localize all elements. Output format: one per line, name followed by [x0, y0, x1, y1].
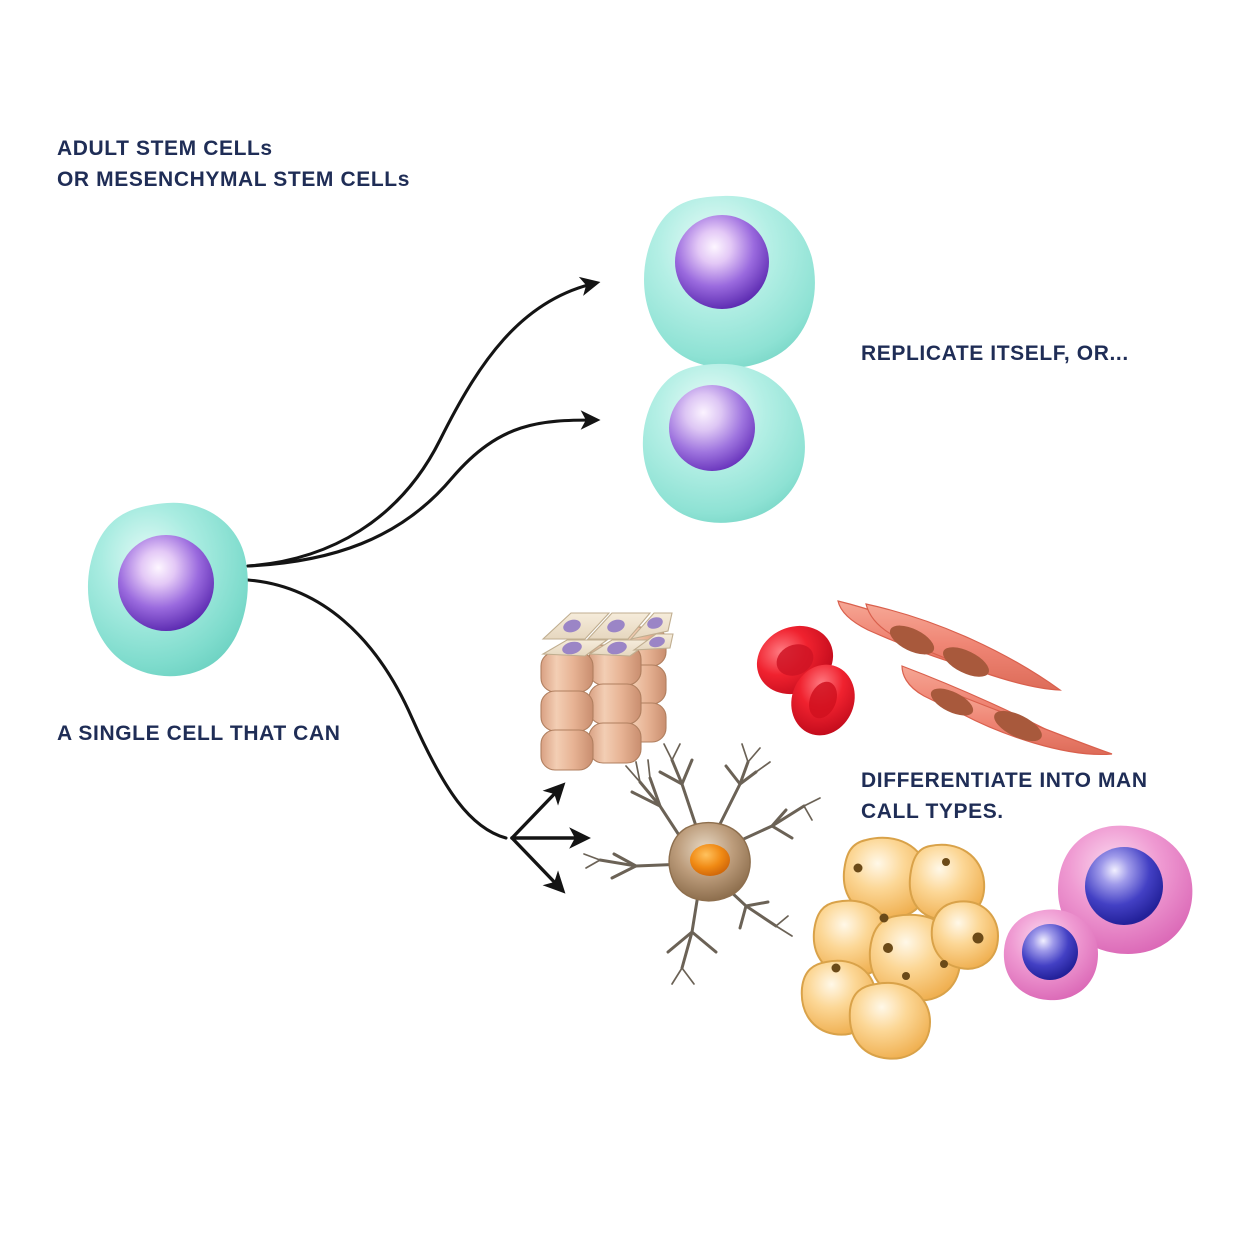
diagram-canvas: ADULT STEM CELLs OR MESENCHYMAL STEM CEL…	[0, 0, 1251, 1251]
arrow-to-daughter-bottom	[248, 420, 596, 566]
label-replicate-itself: REPLICATE ITSELF, OR...	[861, 338, 1129, 369]
arrow-fan-down	[512, 838, 562, 890]
page-title: ADULT STEM CELLs OR MESENCHYMAL STEM CEL…	[57, 133, 410, 195]
label-differentiate: DIFFERENTIATE INTO MAN CALL TYPES.	[861, 765, 1148, 827]
label-single-cell: A SINGLE CELL THAT CAN	[57, 718, 340, 749]
lymphocytes	[1004, 826, 1193, 1001]
smooth-muscle-cells	[838, 601, 1112, 754]
red-blood-cells	[746, 614, 865, 745]
stem-cell-source	[88, 503, 248, 676]
arrow-to-daughter-top	[248, 283, 596, 566]
arrow-to-differentiation	[248, 580, 506, 838]
epithelial-cell-block	[541, 613, 673, 770]
daughter-cell-bottom	[643, 364, 805, 523]
arrow-fan-up	[512, 786, 562, 838]
neuron	[584, 744, 820, 984]
daughter-cell-top	[644, 196, 815, 368]
adipocytes	[802, 838, 998, 1059]
arrow-fan-group	[512, 786, 586, 890]
